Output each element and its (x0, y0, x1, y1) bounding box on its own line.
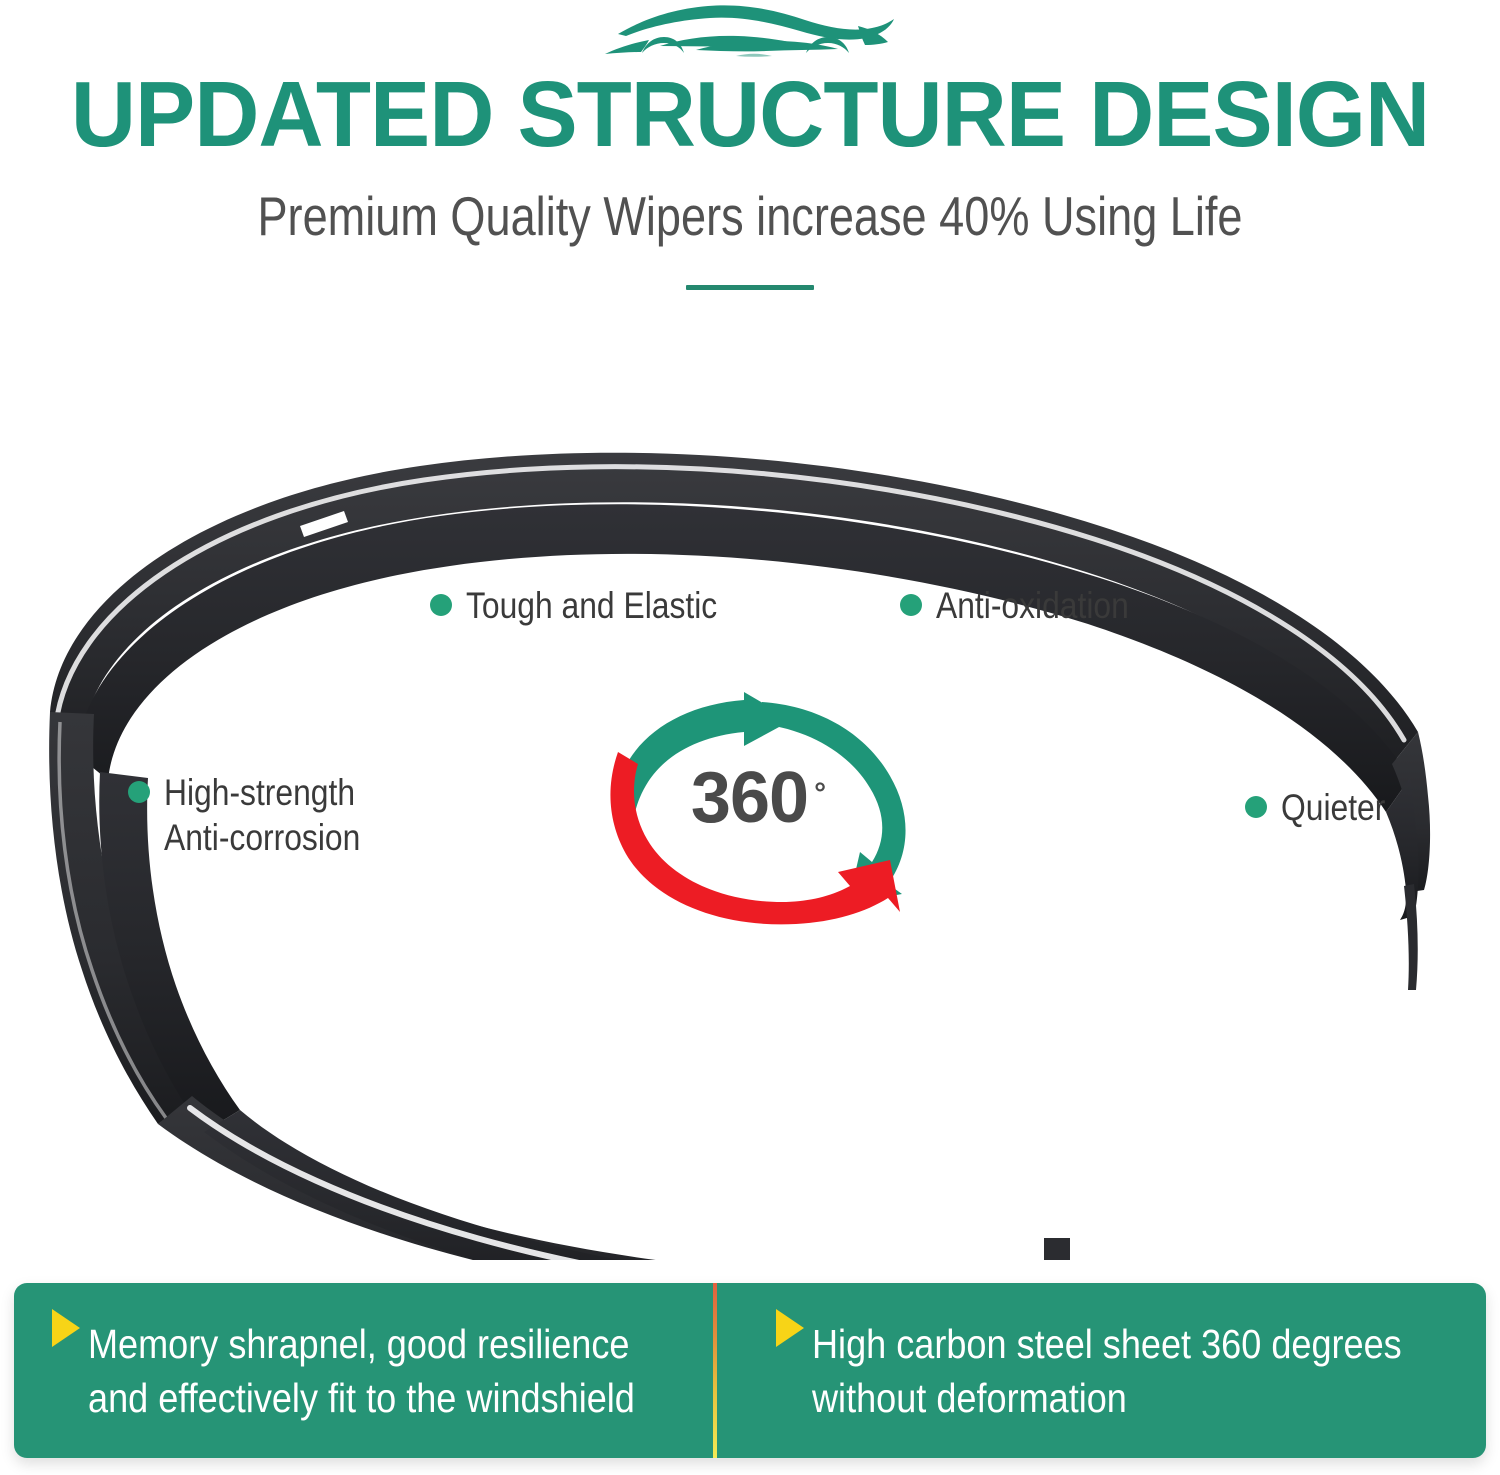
banner-pane-right: High carbon steel sheet 360 degrees with… (724, 1283, 1486, 1458)
feature-label-line2: Anti-corrosion (164, 815, 360, 860)
feature-anti-oxidation: Anti-oxidation (900, 583, 1160, 628)
feature-tough-and-elastic: Tough and Elastic (430, 583, 758, 628)
red-rotation-arrow-icon (610, 752, 900, 924)
title-divider (686, 285, 814, 290)
bullet-dot-icon (128, 781, 150, 803)
banner-right-text: High carbon steel sheet 360 degrees with… (812, 1317, 1402, 1425)
feature-quieter: Quieter (1245, 785, 1402, 830)
banner-vertical-divider (713, 1283, 717, 1458)
badge-360-degrees: 360° (572, 690, 962, 930)
bullet-dot-icon (430, 594, 452, 616)
triangle-right-icon (776, 1309, 804, 1347)
page-subtitle: Premium Quality Wipers increase 40% Usin… (135, 185, 1365, 247)
sports-car-silhouette-icon (600, 2, 900, 68)
header: UPDATED STRUCTURE DESIGN Premium Quality… (0, 0, 1500, 320)
page-title: UPDATED STRUCTURE DESIGN (23, 66, 1478, 162)
banner-left-text: Memory shrapnel, good resilience and eff… (88, 1317, 635, 1425)
feature-label: Quieter (1281, 785, 1385, 830)
feature-label: Anti-oxidation (936, 583, 1129, 628)
feature-high-strength-anti-corrosion: High-strength Anti-corrosion (128, 770, 392, 860)
banner-pane-left: Memory shrapnel, good resilience and eff… (14, 1283, 724, 1458)
bullet-dot-icon (900, 594, 922, 616)
feature-banner: Memory shrapnel, good resilience and eff… (14, 1283, 1486, 1458)
feature-label: Tough and Elastic (466, 583, 717, 628)
feature-label-line1: High-strength (164, 770, 360, 815)
bullet-dot-icon (1245, 796, 1267, 818)
triangle-right-icon (52, 1309, 80, 1347)
